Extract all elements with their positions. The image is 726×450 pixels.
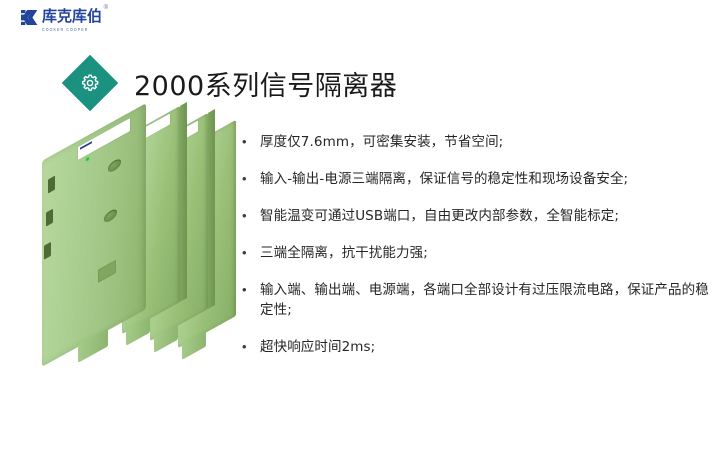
list-item: • 输入-输出-电源三端隔离，保证信号的稳定性和现场设备安全; bbox=[240, 169, 712, 189]
bullet-glyph: • bbox=[240, 337, 260, 357]
bullet-glyph: • bbox=[240, 169, 260, 189]
brand-name-en: COOKER COOPER bbox=[42, 26, 102, 35]
bullet-glyph: • bbox=[240, 243, 260, 263]
feature-list: • 厚度仅7.6mm，可密集安装，节省空间; • 输入-输出-电源三端隔离，保证… bbox=[240, 132, 712, 357]
feature-text: 超快响应时间2ms; bbox=[260, 337, 375, 357]
double-chevron-k-logo-icon bbox=[20, 9, 38, 26]
list-item: • 智能温变可通过USB端口，自由更改内部参数，全智能标定; bbox=[240, 206, 712, 226]
brand-wordmark: 库克库伯 ® COOKER COOPER bbox=[42, 8, 102, 33]
list-item: • 输入端、输出端、电源端，各端口全部设计有过压限流电路，保证产品的稳定性; bbox=[240, 280, 712, 320]
feature-text: 输入-输出-电源三端隔离，保证信号的稳定性和现场设备安全; bbox=[260, 169, 628, 189]
feature-text: 输入端、输出端、电源端，各端口全部设计有过压限流电路，保证产品的稳定性; bbox=[260, 280, 712, 320]
feature-text: 智能温变可通过USB端口，自由更改内部参数，全智能标定; bbox=[260, 206, 619, 226]
feature-text: 三端全隔离，抗干扰能力强; bbox=[260, 243, 428, 263]
brand-name-cn: 库克库伯 bbox=[42, 8, 102, 25]
page-title-row: 2000系列信号隔离器 bbox=[70, 63, 397, 103]
bullet-glyph: • bbox=[240, 132, 260, 152]
feature-text: 厚度仅7.6mm，可密集安装，节省空间; bbox=[260, 132, 503, 152]
list-item: • 三端全隔离，抗干扰能力强; bbox=[240, 243, 712, 263]
page-title: 2000系列信号隔离器 bbox=[134, 64, 397, 103]
title-diamond-badge bbox=[62, 55, 119, 112]
gear-icon bbox=[80, 73, 100, 93]
product-image bbox=[42, 112, 238, 370]
list-item: • 厚度仅7.6mm，可密集安装，节省空间; bbox=[240, 132, 712, 152]
bullet-glyph: • bbox=[240, 206, 260, 226]
list-item: • 超快响应时间2ms; bbox=[240, 337, 712, 357]
trademark-symbol: ® bbox=[104, 5, 108, 11]
brand-logo: 库克库伯 ® COOKER COOPER bbox=[20, 8, 102, 33]
bullet-glyph: • bbox=[240, 280, 260, 300]
